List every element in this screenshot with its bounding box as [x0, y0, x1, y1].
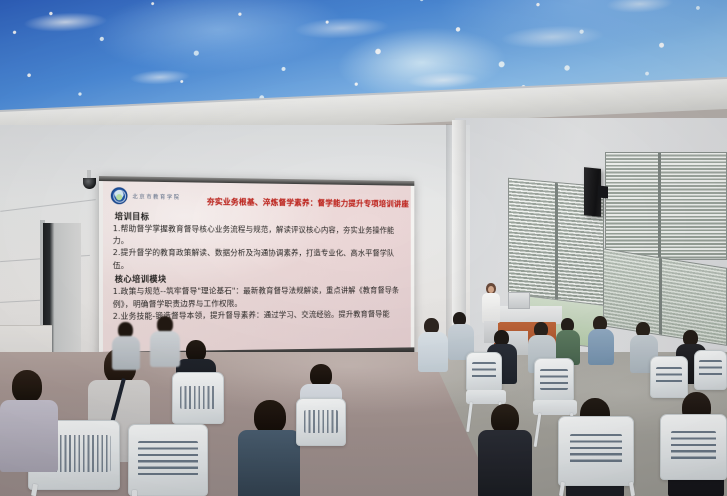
attendee-torso	[238, 430, 300, 496]
attendee	[0, 370, 58, 470]
white-folding-chair[interactable]	[128, 424, 208, 496]
white-folding-chair[interactable]	[558, 416, 634, 486]
podium-monitor	[508, 292, 530, 309]
attendee-torso	[588, 329, 614, 365]
attendee-torso	[150, 331, 180, 367]
slide-heading-core-modules: 核心培训模块	[115, 273, 405, 285]
attendee	[112, 322, 140, 368]
white-folding-chair[interactable]	[660, 414, 727, 480]
attendee-torso	[478, 430, 532, 496]
chair-slots	[138, 441, 199, 476]
projection-screen[interactable]: 北京市教育学院 夯实业务根基、淬炼督学素养：督学能力提升专项培训讲座 培训目标 …	[99, 176, 414, 360]
school-emblem-icon	[111, 187, 128, 204]
slide-item-3: 1.政策与规范--筑牢督导"理论基石"：最新教育督导法规解读，重点讲解《教育督导…	[113, 285, 405, 310]
slide-title: 夯实业务根基、淬炼督学素养：督学能力提升专项培训讲座	[207, 195, 409, 209]
chair-leg	[132, 490, 137, 496]
window-mullion	[555, 183, 558, 303]
attendee	[588, 316, 614, 364]
presenter-torso	[482, 293, 500, 323]
slide-item-2: 2.提升督学的教育政策解读、数据分析及沟通协调素养，打造专业化、高水平督学队伍。	[113, 247, 405, 271]
attendee-head	[254, 400, 286, 434]
attendee-torso	[0, 400, 58, 472]
presenter-face	[488, 286, 494, 293]
window-mullion	[658, 153, 661, 259]
chair-slots	[699, 360, 721, 378]
chair-slots	[472, 362, 496, 380]
chair-slots	[656, 367, 682, 386]
chair-slots	[180, 386, 215, 410]
attendee-head	[12, 370, 42, 403]
chair-slots	[540, 369, 567, 389]
window-with-venetian-blinds	[605, 152, 727, 260]
white-folding-chair[interactable]	[534, 358, 574, 402]
attendee	[478, 404, 532, 496]
slide-heading-training-goals: 培训目标	[115, 210, 405, 224]
white-folding-chair[interactable]	[296, 398, 346, 446]
white-folding-chair[interactable]	[694, 350, 727, 390]
white-folding-chair[interactable]	[172, 372, 224, 424]
speaker-bracket	[598, 185, 608, 198]
chair-slots	[304, 410, 338, 432]
school-name: 北京市教育学院	[132, 187, 180, 200]
chair-slots	[671, 431, 717, 461]
attendee	[418, 318, 448, 370]
window-mullion	[659, 258, 662, 334]
classroom-photo: 北京市教育学院 夯实业务根基、淬炼督学素养：督学能力提升专项培训讲座 培训目标 …	[0, 0, 727, 496]
slide-item-1: 1.帮助督学掌握教育督导核心业务流程与规范，解读评议核心内容，夯实业务操作能力。	[113, 223, 405, 248]
attendee	[150, 316, 180, 364]
attendee-torso	[418, 332, 448, 372]
slide-body: 培训目标 1.帮助督学掌握教育督导核心业务流程与规范，解读评议核心内容，夯实业务…	[111, 210, 405, 323]
venetian-blinds[interactable]	[606, 153, 726, 259]
attendee-torso	[112, 336, 140, 370]
attendee	[238, 400, 300, 496]
white-folding-chair[interactable]	[466, 352, 502, 392]
chair-slots	[570, 434, 622, 466]
